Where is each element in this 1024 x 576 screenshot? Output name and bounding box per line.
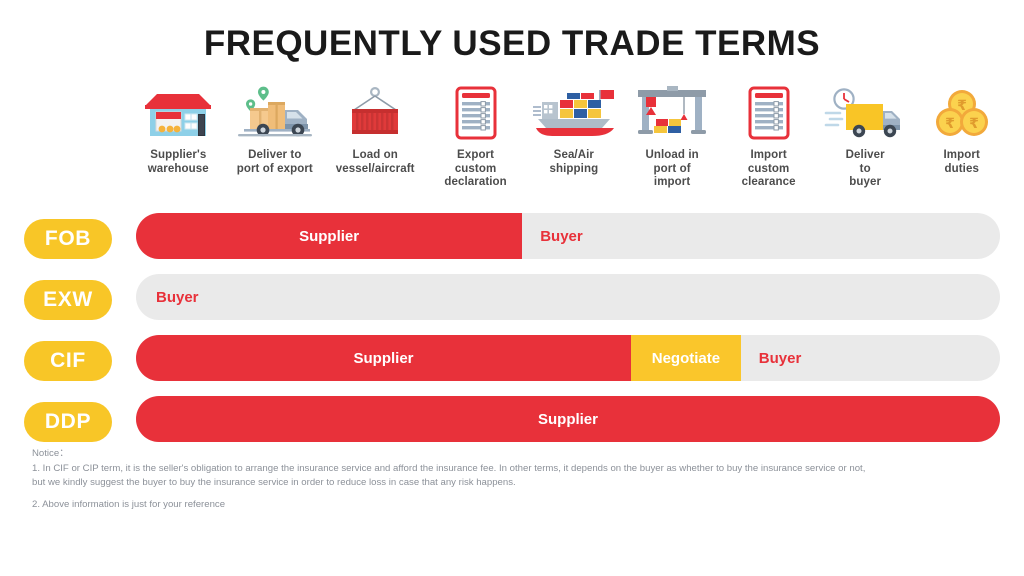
segment-label: Buyer [522, 228, 1000, 245]
step-unload-in-port: Unload in port of import [624, 84, 721, 190]
segment-buyer: Buyer [741, 335, 1000, 381]
responsibility-track-fob: Supplier Buyer [136, 213, 1000, 259]
segment-label: Supplier [136, 228, 522, 245]
segment-buyer: Buyer [522, 213, 1000, 259]
container-crane-hook-icon [340, 84, 410, 140]
step-export-declaration: Export custom declaration [427, 84, 524, 190]
segment-buyer: Buyer [136, 274, 1000, 320]
notice-block: Notice： 1. In CIF or CIP term, it is the… [32, 447, 1007, 512]
segment-negotiate: Negotiate [631, 335, 741, 381]
step-import-duties: ₹ ₹ ₹ Import duties [913, 84, 1010, 176]
notice-line-1-cont: but we kindly suggest the buyer to buy t… [32, 476, 1007, 491]
segment-label: Buyer [741, 350, 1000, 367]
rupee-coins-icon: ₹ ₹ ₹ [931, 84, 993, 140]
step-import-clearance: Import custom clearance [720, 84, 817, 190]
row-fob: FOB Supplier Buyer [0, 213, 1024, 271]
step-label: Load on vessel/aircraft [336, 149, 415, 176]
notice-line-2: 2. Above information is just for your re… [32, 498, 1007, 513]
responsibility-track-ddp: Supplier [136, 396, 1000, 442]
step-deliver-to-buyer: Deliver to buyer [817, 84, 914, 190]
import-clipboard-icon [744, 84, 794, 140]
infographic-page: FREQUENTLY USED TRADE TERMS [0, 0, 1024, 576]
step-load-on-vessel: Load on vessel/aircraft [323, 84, 427, 176]
step-sea-air-shipping: Sea/Air shipping [524, 84, 624, 176]
notice-heading: Notice： [32, 447, 1007, 462]
trade-steps-row: Supplier's warehouse [130, 84, 1010, 199]
incoterm-rows: FOB Supplier Buyer EXW Buyer CIF [0, 213, 1024, 457]
export-clipboard-icon [451, 84, 501, 140]
step-label: Deliver to buyer [846, 149, 885, 190]
cargo-ship-icon [524, 84, 624, 140]
term-badge-fob[interactable]: FOB [24, 219, 112, 259]
fast-delivery-truck-icon [822, 84, 908, 140]
svg-text:₹: ₹ [945, 116, 955, 132]
segment-supplier: Supplier [136, 335, 631, 381]
step-label: Import duties [944, 149, 980, 176]
step-label: Sea/Air shipping [549, 149, 598, 176]
step-label: Supplier's warehouse [148, 149, 209, 176]
term-badge-cif[interactable]: CIF [24, 341, 112, 381]
row-exw: EXW Buyer [0, 274, 1024, 332]
step-label: Export custom declaration [444, 149, 506, 190]
segment-label: Negotiate [631, 350, 741, 367]
step-label: Unload in port of import [645, 149, 698, 190]
gantry-crane-icon [632, 84, 712, 140]
notice-line-1: 1. In CIF or CIP term, it is the seller'… [32, 462, 1007, 477]
step-supplier-warehouse: Supplier's warehouse [130, 84, 227, 176]
warehouse-icon [141, 84, 215, 140]
segment-label: Buyer [136, 289, 1000, 306]
term-badge-ddp[interactable]: DDP [24, 402, 112, 442]
segment-label: Supplier [136, 350, 631, 367]
row-cif: CIF Supplier Negotiate Buyer [0, 335, 1024, 393]
segment-supplier: Supplier [136, 396, 1000, 442]
delivery-truck-icon [232, 84, 318, 140]
responsibility-track-exw: Buyer [136, 274, 1000, 320]
step-deliver-to-port: Deliver to port of export [227, 84, 324, 176]
svg-text:₹: ₹ [969, 116, 979, 132]
page-title: FREQUENTLY USED TRADE TERMS [0, 24, 1024, 64]
segment-label: Supplier [136, 411, 1000, 428]
term-badge-exw[interactable]: EXW [24, 280, 112, 320]
row-ddp: DDP Supplier [0, 396, 1024, 454]
step-label: Import custom clearance [742, 149, 796, 190]
responsibility-track-cif: Supplier Negotiate Buyer [136, 335, 1000, 381]
step-label: Deliver to port of export [237, 149, 313, 176]
segment-supplier: Supplier [136, 213, 522, 259]
